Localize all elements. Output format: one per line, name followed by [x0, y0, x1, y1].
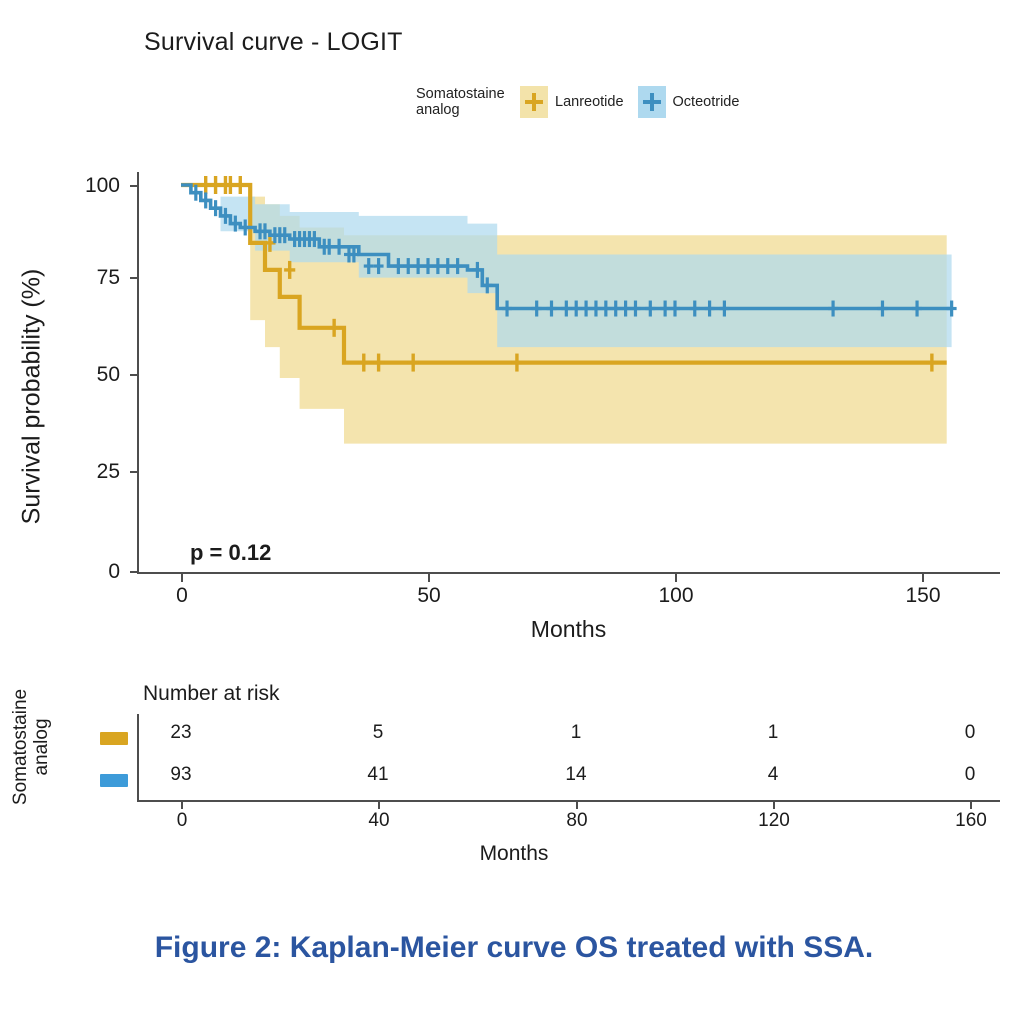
risk-key-octeotride: [100, 774, 128, 787]
number-at-risk-table: Somatostaine analog Number at risk 23 5 …: [0, 664, 1028, 874]
y-axis-line: [137, 172, 139, 574]
risk-x-tick-mark: [970, 802, 972, 809]
x-tick-150: 150: [893, 584, 953, 608]
plus-icon: [643, 93, 661, 111]
risk-cell: 4: [743, 764, 803, 786]
risk-cell: 41: [348, 764, 408, 786]
x-tick-mark: [428, 574, 430, 582]
risk-x-tick-mark: [773, 802, 775, 809]
legend-title-line2: analog: [416, 102, 516, 118]
risk-x-tick-160: 160: [941, 810, 1001, 832]
risk-cell: 14: [546, 764, 606, 786]
risk-x-tick-mark: [576, 802, 578, 809]
risk-table-heading: Number at risk: [143, 682, 280, 706]
survival-curves-svg: [0, 150, 1028, 620]
risk-x-tick-120: 120: [744, 810, 804, 832]
legend-entry-octeotride[interactable]: Octeotride: [638, 86, 754, 118]
risk-cell: 1: [546, 722, 606, 744]
x-tick-100: 100: [646, 584, 706, 608]
risk-cell: 23: [151, 722, 211, 744]
risk-x-axis-title: Months: [0, 842, 1028, 866]
legend-label-lanreotide: Lanreotide: [555, 94, 624, 110]
figure-caption: Figure 2: Kaplan-Meier curve OS treated …: [40, 928, 988, 968]
risk-cell: 93: [151, 764, 211, 786]
p-value-annotation: p = 0.12: [190, 540, 271, 566]
risk-panel-left-border: [137, 714, 139, 800]
legend-entry-lanreotide[interactable]: Lanreotide: [520, 86, 638, 118]
risk-panel-bottom-border: [137, 800, 1000, 802]
x-tick-mark: [181, 574, 183, 582]
figure-container: Survival curve - LOGIT Somatostaine anal…: [0, 0, 1028, 1030]
x-tick-50: 50: [399, 584, 459, 608]
risk-strata-title: Somatostaine analog: [10, 662, 52, 832]
x-tick-0: 0: [152, 584, 212, 608]
legend-title-line1: Somatostaine: [416, 86, 516, 102]
risk-x-tick-mark: [378, 802, 380, 809]
risk-strata-line1: Somatostaine: [10, 662, 31, 832]
risk-x-tick-40: 40: [349, 810, 409, 832]
x-axis-title: Months: [137, 616, 1000, 643]
survival-plot: Survival probability (%) 100 75 50 25 0: [0, 150, 1028, 650]
risk-x-tick-0: 0: [152, 810, 212, 832]
x-tick-mark: [922, 574, 924, 582]
risk-cell: 0: [940, 764, 1000, 786]
risk-x-tick-mark: [181, 802, 183, 809]
page-title: Survival curve - LOGIT: [144, 28, 403, 57]
risk-cell: 1: [743, 722, 803, 744]
legend-label-octeotride: Octeotride: [673, 94, 740, 110]
risk-cell: 5: [348, 722, 408, 744]
legend-key-lanreotide: [520, 86, 548, 118]
x-tick-mark: [675, 574, 677, 582]
legend: Somatostaine analog Lanreotide Octeotrid…: [416, 86, 753, 118]
risk-x-tick-80: 80: [547, 810, 607, 832]
legend-title: Somatostaine analog: [416, 86, 516, 118]
legend-key-octeotride: [638, 86, 666, 118]
risk-strata-line2: analog: [31, 662, 52, 832]
risk-key-lanreotide: [100, 732, 128, 745]
risk-cell: 0: [940, 722, 1000, 744]
plus-icon: [525, 93, 543, 111]
x-axis-line: [137, 572, 1000, 574]
